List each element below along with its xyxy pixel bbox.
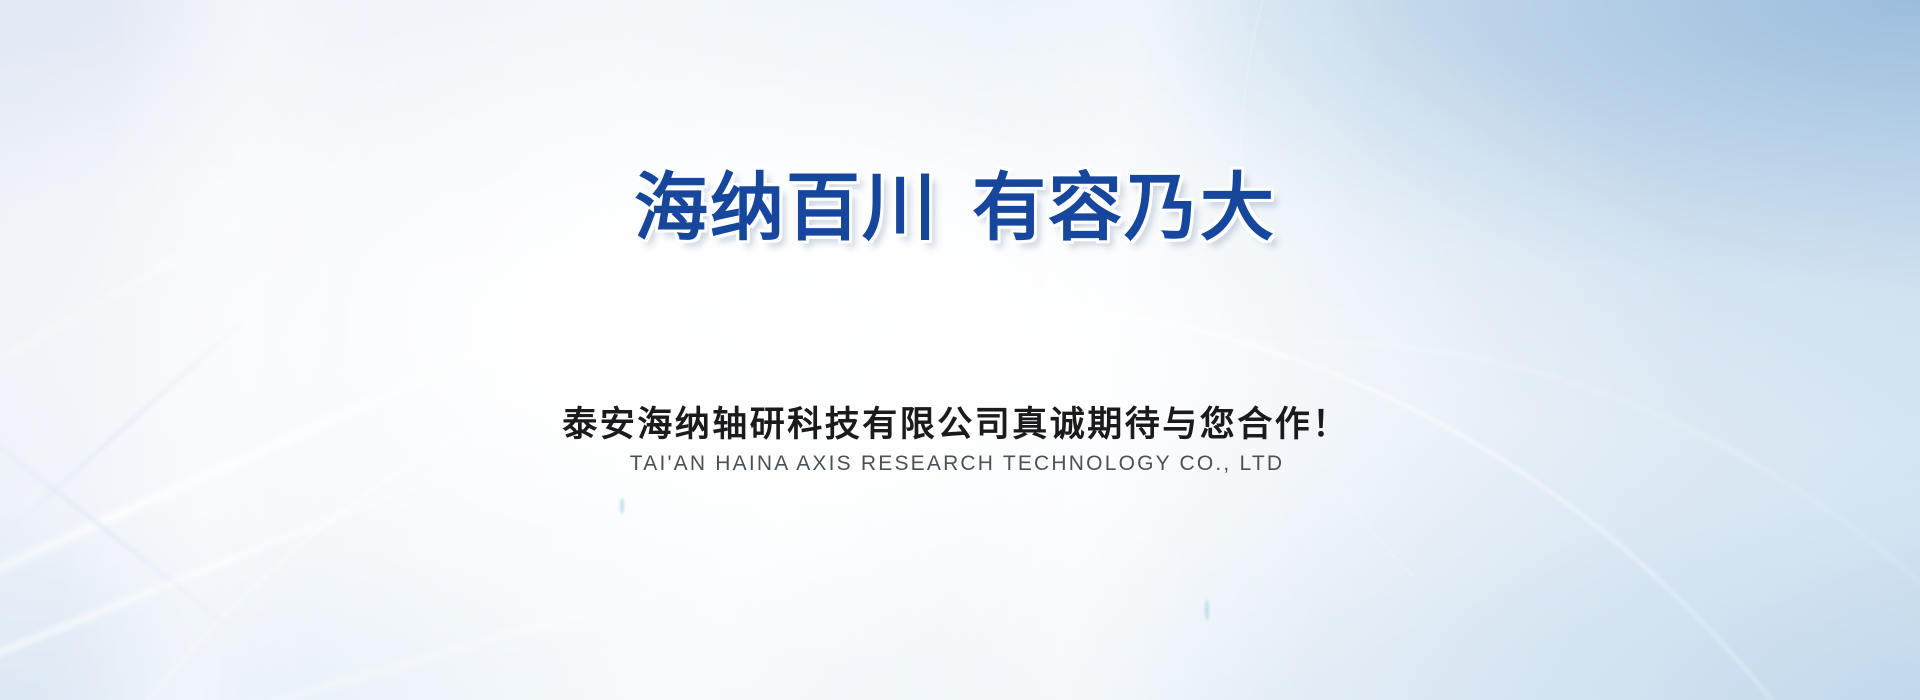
banner-subtitle-english: TAI'AN HAINA AXIS RESEARCH TECHNOLOGY CO…	[0, 452, 1920, 476]
banner-headline: 海纳百川有容乃大	[0, 168, 1920, 248]
banner-content: 海纳百川有容乃大 泰安海纳轴研科技有限公司真诚期待与您合作！ TAI'AN HA…	[0, 0, 1920, 700]
headline-phrase-first: 海纳百川	[634, 166, 938, 249]
hero-banner: 海纳百川有容乃大 泰安海纳轴研科技有限公司真诚期待与您合作！ TAI'AN HA…	[0, 0, 1920, 700]
headline-phrase-second: 有容乃大	[972, 166, 1276, 249]
banner-subtitle-chinese: 泰安海纳轴研科技有限公司真诚期待与您合作！	[0, 396, 1920, 447]
